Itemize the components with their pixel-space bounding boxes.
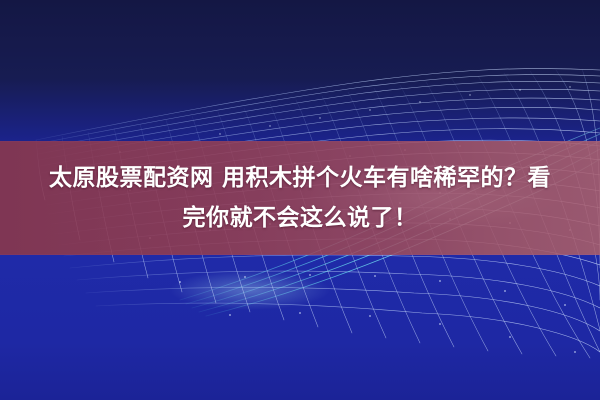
headline-text-block: 太原股票配资网 用积木拼个火车有啥稀罕的？看 完你就不会这么说了！ bbox=[0, 141, 600, 255]
headline-line-1: 太原股票配资网 用积木拼个火车有啥稀罕的？看 bbox=[49, 158, 551, 198]
banner-image: 太原股票配资网 用积木拼个火车有啥稀罕的？看 完你就不会这么说了！ bbox=[0, 0, 600, 400]
headline-line-2: 完你就不会这么说了！ bbox=[183, 198, 418, 238]
